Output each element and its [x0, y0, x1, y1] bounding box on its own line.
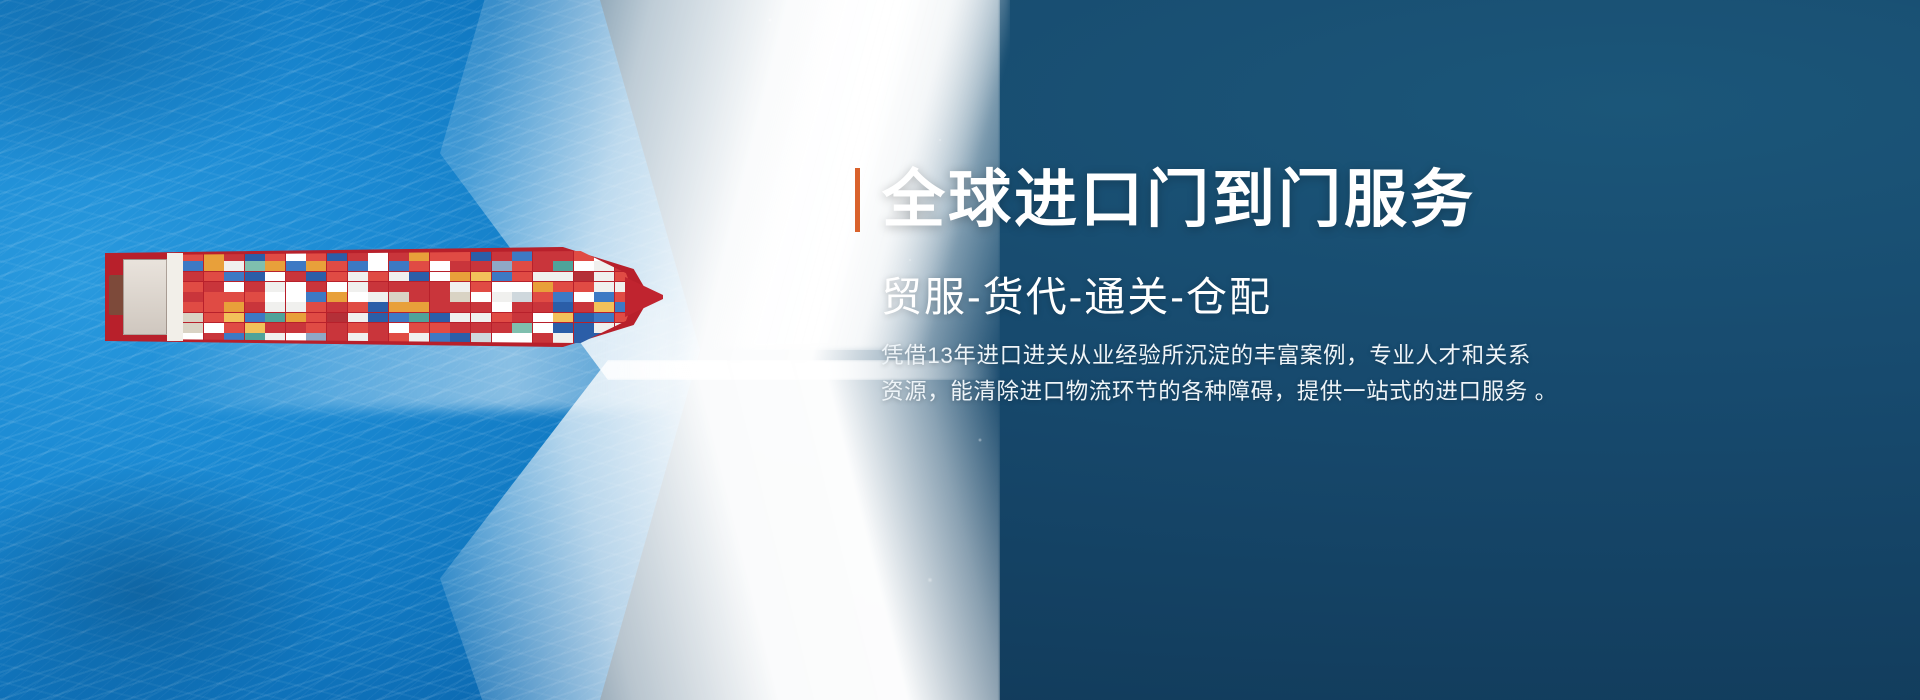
container-cell: [594, 292, 614, 302]
container-cell: [265, 292, 285, 302]
container-cell: [286, 302, 306, 312]
container-cell: [306, 282, 326, 292]
container-cell: [389, 313, 409, 323]
container-cell: [265, 323, 285, 333]
container-cell: [574, 313, 594, 323]
container-cell: [327, 272, 347, 282]
container-cell: [512, 251, 532, 261]
container-cell: [492, 323, 512, 333]
hero-description-line-1: 凭借13年进口进关从业经验所沉淀的丰富案例，专业人才和关系: [881, 338, 1781, 374]
container-cell: [471, 333, 491, 343]
container-cell: [492, 313, 512, 323]
container-cell: [265, 302, 285, 312]
container-cell: [492, 282, 512, 292]
container-cell: [265, 282, 285, 292]
container-cell: [368, 313, 388, 323]
container-cell: [430, 323, 450, 333]
container-cell: [306, 302, 326, 312]
container-cell: [204, 323, 224, 333]
container-cell: [450, 302, 470, 312]
container-cell: [348, 292, 368, 302]
container-cell: [450, 292, 470, 302]
container-cell: [594, 282, 614, 292]
container-ship: [105, 247, 650, 347]
container-cell: [245, 282, 265, 292]
container-cell: [512, 333, 532, 343]
container-cell: [615, 251, 635, 261]
container-cell: [389, 323, 409, 333]
container-cell: [389, 272, 409, 282]
container-cell: [183, 302, 203, 312]
hero-subtitle: 贸服-货代-通关-仓配: [881, 272, 1272, 323]
container-cell: [409, 313, 429, 323]
container-cell: [430, 302, 450, 312]
container-cell: [183, 282, 203, 292]
container-cell: [368, 292, 388, 302]
container-cell: [286, 282, 306, 292]
container-cell: [512, 323, 532, 333]
container-cell: [553, 313, 573, 323]
container-cell: [265, 313, 285, 323]
container-cell: [327, 313, 347, 323]
container-cell: [471, 282, 491, 292]
container-cell: [512, 292, 532, 302]
container-cell: [512, 302, 532, 312]
container-cell: [368, 282, 388, 292]
container-cell: [574, 282, 594, 292]
container-cell: [450, 282, 470, 292]
container-cell: [594, 251, 614, 261]
container-cell: [533, 282, 553, 292]
container-cell: [389, 292, 409, 302]
container-cell: [471, 261, 491, 271]
container-cell: [492, 251, 512, 261]
container-cell: [512, 261, 532, 271]
container-cell: [409, 272, 429, 282]
container-cell: [471, 313, 491, 323]
ship-superstructure: [123, 259, 167, 335]
container-cell: [450, 333, 470, 343]
container-deck: [183, 251, 635, 343]
container-cell: [245, 292, 265, 302]
container-cell: [204, 292, 224, 302]
container-cell: [327, 323, 347, 333]
container-cell: [430, 251, 450, 261]
container-cell: [306, 313, 326, 323]
container-cell: [306, 272, 326, 282]
hero-description-line-2: 资源，能清除进口物流环节的各种障碍，提供一站式的进口服务 。: [881, 374, 1781, 410]
container-cell: [553, 272, 573, 282]
container-cell: [553, 323, 573, 333]
container-cell: [574, 261, 594, 271]
container-cell: [512, 282, 532, 292]
container-cell: [409, 282, 429, 292]
container-cell: [348, 272, 368, 282]
container-cell: [224, 323, 244, 333]
container-cell: [204, 272, 224, 282]
container-cell: [615, 333, 635, 343]
container-cell: [450, 323, 470, 333]
container-cell: [183, 292, 203, 302]
container-cell: [183, 272, 203, 282]
container-cell: [533, 313, 553, 323]
container-cell: [553, 282, 573, 292]
container-cell: [204, 261, 224, 271]
container-cell: [492, 272, 512, 282]
container-cell: [306, 292, 326, 302]
container-cell: [471, 292, 491, 302]
water-shade-upper: [0, 0, 420, 240]
container-cell: [430, 292, 450, 302]
container-cell: [224, 292, 244, 302]
container-cell: [430, 261, 450, 271]
container-cell: [553, 251, 573, 261]
hero-banner: 全球进口门到门服务 贸服-货代-通关-仓配 凭借13年进口进关从业经验所沉淀的丰…: [0, 0, 1920, 700]
container-cell: [409, 292, 429, 302]
container-cell: [492, 333, 512, 343]
container-cell: [594, 333, 614, 343]
container-cell: [286, 313, 306, 323]
container-cell: [492, 292, 512, 302]
hero-title-row: 全球进口门到门服务: [855, 168, 1476, 232]
container-cell: [450, 261, 470, 271]
container-cell: [492, 302, 512, 312]
container-cell: [574, 323, 594, 333]
container-cell: [368, 261, 388, 271]
container-cell: [224, 302, 244, 312]
container-cell: [574, 272, 594, 282]
container-cell: [183, 313, 203, 323]
container-cell: [533, 251, 553, 261]
container-cell: [512, 272, 532, 282]
container-cell: [245, 323, 265, 333]
container-cell: [533, 292, 553, 302]
container-cell: [368, 272, 388, 282]
container-cell: [430, 272, 450, 282]
container-cell: [430, 282, 450, 292]
container-cell: [327, 282, 347, 292]
water-shade-lower: [0, 430, 470, 700]
container-cell: [409, 261, 429, 271]
container-cell: [492, 261, 512, 271]
container-cell: [512, 313, 532, 323]
container-cell: [245, 272, 265, 282]
container-cell: [245, 261, 265, 271]
ship-bridge: [167, 253, 183, 341]
container-cell: [471, 323, 491, 333]
container-cell: [594, 272, 614, 282]
hero-description: 凭借13年进口进关从业经验所沉淀的丰富案例，专业人才和关系 资源，能清除进口物流…: [881, 338, 1781, 411]
container-cell: [224, 313, 244, 323]
container-cell: [594, 313, 614, 323]
container-cell: [306, 261, 326, 271]
accent-bar-icon: [855, 168, 860, 232]
container-cell: [368, 302, 388, 312]
container-cell: [471, 272, 491, 282]
container-cell: [471, 302, 491, 312]
container-cell: [204, 302, 224, 312]
page-title: 全球进口门到门服务: [882, 169, 1476, 232]
container-cell: [204, 313, 224, 323]
container-cell: [204, 282, 224, 292]
container-cell: [533, 261, 553, 271]
container-cell: [533, 333, 553, 343]
container-cell: [245, 313, 265, 323]
container-cell: [389, 282, 409, 292]
container-cell: [286, 272, 306, 282]
hero-content: 全球进口门到门服务 贸服-货代-通关-仓配 凭借13年进口进关从业经验所沉淀的丰…: [855, 0, 1865, 700]
container-cell: [574, 292, 594, 302]
container-cell: [245, 302, 265, 312]
container-cell: [224, 261, 244, 271]
container-cell: [533, 302, 553, 312]
container-cell: [553, 302, 573, 312]
container-cell: [450, 251, 470, 261]
container-cell: [533, 323, 553, 333]
container-cell: [348, 323, 368, 333]
container-cell: [348, 313, 368, 323]
container-cell: [348, 261, 368, 271]
container-cell: [389, 261, 409, 271]
container-cell: [368, 323, 388, 333]
container-cell: [389, 302, 409, 312]
container-cell: [594, 302, 614, 312]
container-cell: [553, 261, 573, 271]
container-cell: [348, 282, 368, 292]
container-cell: [409, 323, 429, 333]
container-cell: [327, 302, 347, 312]
container-cell: [286, 261, 306, 271]
container-cell: [553, 333, 573, 343]
container-cell: [265, 272, 285, 282]
container-cell: [430, 313, 450, 323]
container-cell: [409, 302, 429, 312]
container-cell: [533, 272, 553, 282]
container-cell: [286, 323, 306, 333]
container-cell: [450, 272, 470, 282]
container-cell: [327, 292, 347, 302]
container-cell: [450, 313, 470, 323]
container-cell: [224, 282, 244, 292]
container-cell: [224, 272, 244, 282]
container-cell: [348, 302, 368, 312]
container-cell: [574, 302, 594, 312]
container-cell: [183, 323, 203, 333]
container-cell: [306, 323, 326, 333]
container-cell: [553, 292, 573, 302]
container-cell: [265, 261, 285, 271]
container-cell: [471, 251, 491, 261]
container-cell: [430, 333, 450, 343]
container-cell: [327, 261, 347, 271]
container-cell: [286, 292, 306, 302]
container-cell: [183, 261, 203, 271]
